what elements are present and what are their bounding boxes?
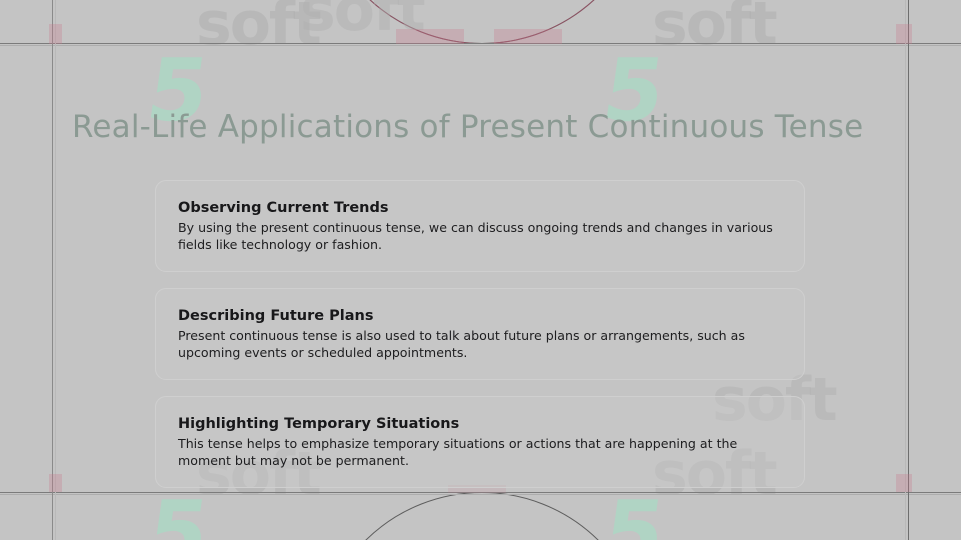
arc-tint-right [494, 29, 562, 44]
circle-arc-top-tint-icon [316, 0, 648, 44]
card-highlighting-temporary-situations[interactable]: Highlighting Temporary Situations This t… [155, 396, 805, 488]
slide-canvas: 5 soft 5 soft 5 soft 5 soft soft soft Re… [0, 0, 961, 540]
circle-arc-top-icon [316, 0, 648, 44]
guide-line-vertical-left-secondary [55, 0, 56, 540]
corner-tint-bottom-right [896, 474, 912, 492]
guide-line-horizontal-top [0, 43, 961, 44]
watermark-text: soft [300, 0, 424, 40]
card-heading: Describing Future Plans [178, 308, 782, 325]
card-body-text: By using the present continuous tense, w… [178, 220, 778, 253]
page-title: Real-Life Applications of Present Contin… [72, 109, 863, 145]
card-body-text: Present continuous tense is also used to… [178, 328, 778, 361]
card-describing-future-plans[interactable]: Describing Future Plans Present continuo… [155, 288, 805, 380]
guide-line-horizontal-top-secondary [0, 45, 961, 46]
card-heading: Observing Current Trends [178, 200, 782, 217]
card-list: Observing Current Trends By using the pr… [155, 180, 805, 504]
guide-line-vertical-right [908, 0, 909, 540]
card-observing-current-trends[interactable]: Observing Current Trends By using the pr… [155, 180, 805, 272]
card-body-text: This tense helps to emphasize temporary … [178, 436, 778, 469]
corner-tint-top-right [896, 24, 912, 44]
arc-tint-left [396, 29, 464, 44]
guide-line-vertical-left [52, 0, 53, 540]
card-heading: Highlighting Temporary Situations [178, 416, 782, 433]
guide-line-vertical-right-secondary [905, 0, 906, 540]
